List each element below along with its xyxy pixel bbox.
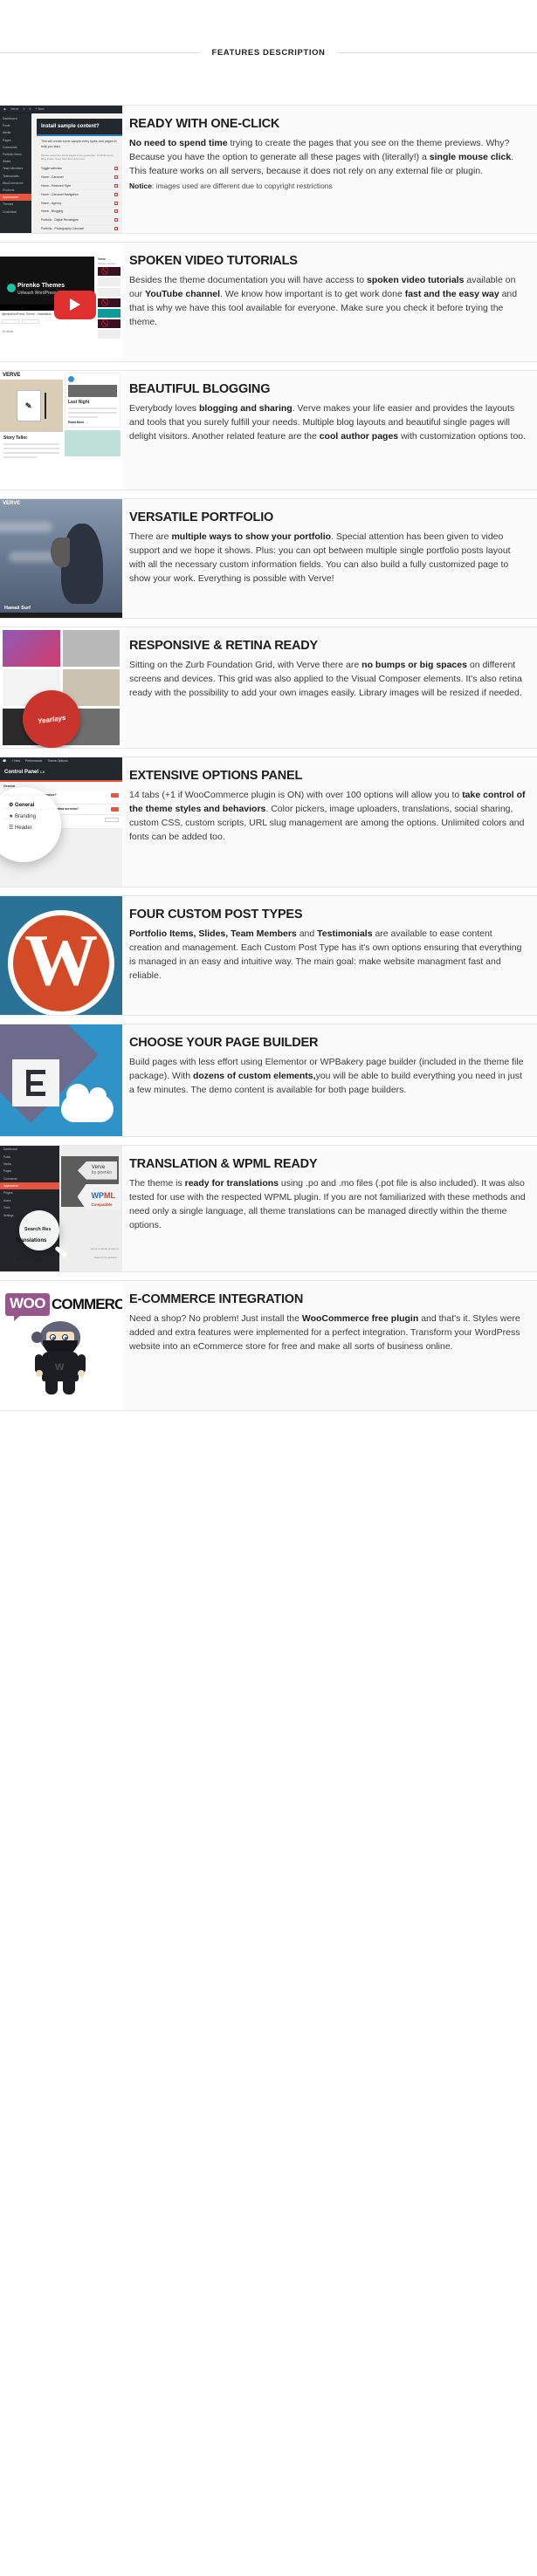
new-button[interactable]: + New — [11, 759, 20, 763]
theme-author: by pirenko — [92, 1171, 112, 1176]
tab-general-label[interactable]: ⚙ General — [0, 799, 61, 811]
checkbox-icon[interactable]: ✓ — [114, 227, 118, 230]
feature-media-options-panel: 💬 + New Performance Theme Options Contro… — [0, 757, 122, 887]
feature-text: READY WITH ONE-CLICK No need to spend ti… — [122, 106, 537, 233]
checkbox-icon[interactable]: ✓ — [114, 167, 118, 170]
option-label: Toggle selection — [41, 167, 62, 170]
feature-media-portfolio: VERVE Hawaii Surf — [0, 499, 122, 618]
wp-admin-bar: ◉ Verve 1 0 + New — [0, 106, 122, 113]
wp-comments-count[interactable]: 0 — [29, 107, 31, 111]
feature-body: Need a shop? No problem! Just install th… — [129, 1312, 527, 1354]
ninja-body: W — [42, 1352, 79, 1381]
list-item[interactable] — [98, 267, 120, 276]
option-label: Portfolio - Digital Rectangles — [41, 218, 79, 222]
woocommerce-logo: WOO COMMERCE — [5, 1293, 122, 1316]
blog-card[interactable]: Last Night Read More → — [65, 373, 120, 428]
panel-title: Control Panel — [4, 770, 38, 775]
theme-options-menu[interactable]: Theme Options — [47, 759, 67, 763]
sidebar-item-posts[interactable]: Posts — [0, 122, 31, 129]
feature-title: VERSATILE PORTFOLIO — [129, 511, 527, 525]
feature-media-youtube: Pirenko Themes Unleash WordPress Verve W… — [0, 243, 122, 361]
logo-outer-circle: W — [8, 910, 114, 1015]
wp-admin-bar: 💬 + New Performance Theme Options — [0, 757, 122, 764]
panel-version: 1.6 — [40, 770, 45, 774]
checkbox-icon[interactable]: ✓ — [114, 218, 118, 222]
text-line — [3, 448, 59, 449]
share-button[interactable] — [22, 319, 39, 324]
blog-bottom-image — [65, 430, 120, 456]
feature-text: TRANSLATION & WPML READY The theme is re… — [122, 1146, 537, 1271]
woocommerce-ninja-icon: W — [31, 1321, 89, 1396]
list-item[interactable]: Home - Featured Style✓ — [41, 182, 118, 191]
feature-text: CHOOSE YOUR PAGE BUILDER Build pages wit… — [122, 1024, 537, 1136]
feature-body: The theme is ready for translations usin… — [129, 1177, 527, 1233]
sidebar-item[interactable]: Users — [0, 1197, 59, 1204]
features-description-title: FEATURES DESCRIPTION — [211, 48, 325, 58]
install-card-subtext: Please select the demo pages to be gener… — [37, 154, 122, 166]
ninja-leg-left — [45, 1379, 58, 1394]
sidebar-item[interactable]: Media — [0, 1161, 59, 1168]
sidebar-item-active[interactable]: Appearance — [0, 1182, 59, 1189]
feature-text: RESPONSIVE & RETINA READY Sitting on the… — [122, 627, 537, 748]
brand-line-1: Pirenko Themes — [17, 283, 65, 289]
feature-media-page-builder — [0, 1024, 122, 1136]
blog-right-column: Last Night Read More → — [63, 371, 122, 490]
logo-inner-circle: W — [13, 915, 109, 1011]
sidebar-item-themes[interactable]: Themes — [0, 201, 31, 208]
woo-badge: WOO — [5, 1293, 50, 1316]
list-item[interactable]: Home - Carousel✓ — [41, 174, 118, 182]
wp-updates-count[interactable]: 1 — [23, 107, 24, 111]
cloud-shape — [0, 522, 52, 532]
pirenko-logo-icon — [7, 284, 16, 292]
feature-title: BEAUTIFUL BLOGGING — [129, 383, 527, 397]
wp-logo-icon: ◉ — [3, 107, 6, 111]
list-item[interactable]: Portfolio - Photography Carousel✓ — [41, 225, 118, 233]
install-sample-content-card: Install sample content? — [37, 119, 122, 136]
toggle-switch[interactable] — [111, 793, 119, 798]
list-item[interactable]: Home - Agency✓ — [41, 199, 118, 208]
install-card-title: Install sample content? — [37, 119, 122, 134]
sidebar-item-testimonials[interactable]: Testimonials — [0, 173, 31, 180]
video-sidebar-list: Verve Pirenko Themes — [96, 257, 122, 358]
feature-body: Besides the theme documentation you will… — [129, 274, 527, 330]
option-label: Home - Featured Style — [41, 184, 71, 188]
video-views: 16 views — [2, 330, 13, 333]
feature-text: FOUR CUSTOM POST TYPES Portfolio Items, … — [122, 896, 537, 1015]
text-line — [3, 452, 59, 454]
feature-beautiful-blogging: VERVE ✎ Story Teller — [0, 370, 537, 490]
feature-media-wordpress-logo: W — [0, 896, 122, 1015]
panel-header: Control Panel 1.6 — [0, 764, 122, 780]
tab-label: General — [15, 803, 34, 808]
ninja-chest-letter: W — [55, 1362, 64, 1373]
field-hint: Items to divide pieces of — [91, 1247, 119, 1250]
wordpress-admin-mock: ◉ Verve 1 0 + New Dashboard Posts Media … — [0, 106, 122, 233]
checkbox-icon[interactable]: ✓ — [114, 184, 118, 188]
grid-cell — [3, 630, 60, 667]
numeric-input[interactable] — [105, 818, 119, 822]
subscribe-button[interactable] — [2, 319, 19, 324]
feature-title: CHOOSE YOUR PAGE BUILDER — [129, 1037, 527, 1051]
feature-ready-with-one-click: ◉ Verve 1 0 + New Dashboard Posts Media … — [0, 105, 537, 234]
feature-media-blogging: VERVE ✎ Story Teller — [0, 371, 122, 490]
feature-text: VERSATILE PORTFOLIO There are multiple w… — [122, 499, 537, 618]
stamp-label: Yearlays — [37, 713, 66, 724]
sidebar-item[interactable]: Plugins — [0, 1189, 59, 1196]
ninja-hand-right — [78, 1370, 85, 1377]
post-title: Story Teller — [3, 435, 59, 441]
tab-branding-label[interactable]: ★ Branding — [0, 811, 61, 822]
site-logo: VERVE — [0, 371, 63, 380]
stamp-badge: Yearlays — [23, 690, 80, 748]
features-section-header: FEATURES DESCRIPTION — [0, 0, 537, 105]
list-item[interactable]: Home - Blogging✓ — [41, 208, 118, 216]
image-caption: Hawaii Surf — [0, 606, 122, 611]
feature-choose-your-page-builder: CHOOSE YOUR PAGE BUILDER Build pages wit… — [0, 1024, 537, 1137]
post-title: Last Night — [68, 400, 117, 405]
feature-notice: Notice: images used are different due to… — [129, 181, 527, 192]
sidebar-item-portfolio-items[interactable]: Portfolio Items — [0, 151, 31, 158]
wpml-ml: ML — [104, 1191, 115, 1200]
feature-media-responsive-grid: Yearlays — [0, 627, 122, 748]
site-logo: VERVE — [3, 501, 20, 506]
post-thumbnail — [68, 385, 117, 397]
list-item[interactable] — [98, 319, 120, 328]
feature-responsive-retina-ready: Yearlays RESPONSIVE & RETINA READY Sitti… — [0, 627, 537, 749]
tab-header-label[interactable]: ☰ Header — [0, 822, 61, 833]
surfer-face — [51, 538, 70, 567]
feature-extensive-options-panel: 💬 + New Performance Theme Options Contro… — [0, 757, 537, 887]
checkbox-icon[interactable]: ✓ — [114, 209, 118, 213]
wpml-compatible-label: Compatible — [92, 1202, 116, 1207]
feature-title: EXTENSIVE OPTIONS PANEL — [129, 770, 527, 784]
feature-body: There are multiple ways to show your por… — [129, 531, 527, 586]
video-title: Verve WordPress Theme - Installation — [2, 312, 93, 316]
list-item[interactable]: Portfolio - Digital Rectangles✓ — [41, 216, 118, 225]
feature-title: TRANSLATION & WPML READY — [129, 1158, 527, 1172]
feature-body: Build pages with less effort using Eleme… — [129, 1056, 527, 1098]
feature-translation-wpml-ready: Dashboard Posts Media Pages Comments App… — [0, 1145, 537, 1272]
feature-text: BEAUTIFUL BLOGGING Everybody loves blogg… — [122, 371, 537, 490]
sidebar-item-pages[interactable]: Pages — [0, 137, 31, 144]
sidebar-item[interactable]: Pages — [0, 1168, 59, 1175]
sidebar-item-appearance[interactable]: Appearance — [0, 194, 31, 201]
ninja-leg-right — [63, 1379, 75, 1394]
feature-e-commerce-integration: WOO COMMERCE W — [0, 1280, 537, 1411]
scribble-icon: ✎ — [25, 401, 32, 410]
translation-mock: Dashboard Posts Media Pages Comments App… — [0, 1146, 122, 1271]
blog-hero-image: ✎ — [0, 380, 63, 432]
sidebar-item-media[interactable]: Media — [0, 129, 31, 136]
wp-admin-sidebar: Dashboard Posts Media Pages Comments Por… — [0, 113, 31, 233]
option-label: Home - Agency — [41, 202, 61, 205]
header-rule-left — [0, 52, 199, 53]
page-builder-graphic — [0, 1024, 122, 1136]
list-item[interactable]: Home - Carousel Navigation✓ — [41, 190, 118, 199]
option-label: Portfolio - Photography Carousel — [41, 227, 84, 230]
wpml-label: WPML — [92, 1191, 116, 1200]
tab-label: Branding — [15, 814, 36, 819]
text-line — [3, 443, 59, 445]
list-item[interactable] — [98, 277, 120, 286]
install-card-text: This will create some sample entry types… — [37, 136, 122, 154]
performance-menu[interactable]: Performance — [25, 759, 42, 763]
feature-body: Everybody loves blogging and sharing. Ve… — [129, 402, 527, 444]
checkbox-icon[interactable]: ✓ — [114, 202, 118, 205]
wpml-badge: WPML Compatible — [78, 1184, 121, 1209]
read-more-link[interactable]: Read More → — [68, 421, 117, 424]
menu-item-translations[interactable]: Translations — [16, 1238, 46, 1243]
admin-sidebar: Dashboard Posts Media Pages Comments App… — [0, 1146, 59, 1271]
elementor-logo-icon — [12, 1059, 59, 1106]
list-item[interactable] — [98, 298, 120, 307]
magnifier-icon: Search Res — [19, 1210, 59, 1250]
sidebar-item[interactable]: Posts — [0, 1153, 59, 1160]
wp-admin-main: Install sample content? This will create… — [31, 113, 122, 233]
sidebar-item[interactable]: Dashboard — [0, 1146, 59, 1153]
sidebar-item-team-members[interactable]: Team Members — [0, 165, 31, 172]
woocommerce-graphic: WOO COMMERCE W — [0, 1281, 122, 1410]
blog-left-column: VERVE ✎ Story Teller — [0, 371, 63, 490]
text-line — [3, 456, 37, 458]
list-item[interactable]: Toggle selection✓ — [41, 165, 118, 174]
blog-post-teaser[interactable]: Story Teller — [0, 432, 63, 458]
wordpress-logo: W — [0, 896, 122, 1015]
cloud-icon — [61, 1094, 114, 1122]
feature-title: READY WITH ONE-CLICK — [129, 118, 527, 132]
footer-bar — [0, 613, 122, 618]
sidebar-item-slides[interactable]: Slides — [0, 158, 31, 165]
sidebar-item-products[interactable]: Products — [0, 187, 31, 194]
wordpress-w-icon: W — [24, 924, 98, 997]
menu-item-woocommerce[interactable]: Woocomm — [16, 1257, 43, 1263]
wp-new-button[interactable]: + New — [35, 107, 44, 111]
wp-site-name[interactable]: Verve — [10, 107, 18, 111]
feature-media-translation: Dashboard Posts Media Pages Comments App… — [0, 1146, 122, 1271]
feature-title: SPOKEN VIDEO TUTORIALS — [129, 255, 527, 269]
feature-text: EXTENSIVE OPTIONS PANEL 14 tabs (+1 if W… — [122, 757, 537, 887]
feature-title: RESPONSIVE & RETINA READY — [129, 640, 527, 654]
text-line — [68, 408, 117, 409]
feature-title: E-COMMERCE INTEGRATION — [129, 1293, 527, 1307]
list-item[interactable] — [98, 288, 120, 297]
features-page: FEATURES DESCRIPTION ◉ Verve 1 0 + New D… — [0, 0, 537, 1411]
commerce-text: COMMERCE — [52, 1296, 122, 1313]
search-results-label: Search Res — [24, 1227, 51, 1232]
text-line — [68, 416, 98, 418]
pen-icon — [45, 393, 46, 419]
option-label: Home - Carousel — [41, 175, 64, 179]
list-item[interactable] — [98, 330, 120, 339]
youtube-mock: Pirenko Themes Unleash WordPress Verve W… — [0, 243, 122, 361]
header-rule-right — [338, 52, 537, 53]
blog-layout-mock: VERVE ✎ Story Teller — [0, 371, 122, 490]
feature-body: 14 tabs (+1 if WooCommerce plugin is ON)… — [129, 789, 527, 845]
framed-artwork: ✎ — [17, 390, 41, 421]
feature-text: SPOKEN VIDEO TUTORIALS Besides the theme… — [122, 243, 537, 361]
feature-body: No need to spend time trying to create t… — [129, 137, 527, 179]
option-label: Home - Carousel Navigation — [41, 193, 79, 196]
avatar — [68, 376, 74, 382]
feature-body: Sitting on the Zurb Foundation Grid, wit… — [129, 659, 527, 701]
feature-media-wp-install: ◉ Verve 1 0 + New Dashboard Posts Media … — [0, 106, 122, 233]
ninja-eye-right — [62, 1334, 68, 1340]
feature-media-woocommerce: WOO COMMERCE W — [0, 1281, 122, 1410]
tab-label: Header — [15, 826, 32, 831]
feature-versatile-portfolio: VERVE Hawaii Surf VERSATILE PORTFOLIO Th… — [0, 498, 537, 619]
wpml-wp: WP — [92, 1191, 105, 1200]
sidebar-item[interactable]: Tools — [0, 1204, 59, 1211]
ninja-hand-left — [36, 1370, 43, 1377]
sidebar-item[interactable]: Comments — [0, 1175, 59, 1182]
list-item[interactable] — [98, 309, 120, 318]
feature-title: FOUR CUSTOM POST TYPES — [129, 908, 527, 922]
portfolio-hero-image: VERVE Hawaii Surf — [0, 499, 122, 618]
install-options-list: Toggle selection✓ Home - Carousel✓ Home … — [37, 165, 122, 233]
feature-text: E-COMMERCE INTEGRATION Need a shop? No p… — [122, 1281, 537, 1410]
sidebar-item-customize[interactable]: Customize — [0, 208, 31, 215]
feature-spoken-video-tutorials: Pirenko Themes Unleash WordPress Verve W… — [0, 242, 537, 362]
option-label: Home - Blogging — [41, 209, 63, 213]
sidebar-item-comments[interactable]: Comments — [0, 144, 31, 151]
feature-body: Portfolio Items, Slides, Team Members an… — [129, 928, 527, 983]
wp-admin-body: Dashboard Posts Media Pages Comments Por… — [0, 113, 122, 233]
checkbox-icon[interactable]: ✓ — [114, 175, 118, 179]
ninja-knot — [31, 1332, 43, 1343]
toggle-switch[interactable] — [111, 807, 119, 812]
grid-cell — [63, 630, 120, 667]
checkbox-icon[interactable]: ✓ — [114, 193, 118, 196]
video-action-buttons[interactable] — [2, 319, 39, 324]
search-placeholder-text: Search the website... — [94, 1256, 119, 1259]
feature-four-custom-post-types: W FOUR CUSTOM POST TYPES Portfolio Items… — [0, 895, 537, 1016]
sidebar-item-dashboard[interactable]: Dashboard — [0, 115, 31, 122]
sidebar-item-woocommerce[interactable]: WooCommerce — [0, 180, 31, 187]
text-line — [68, 412, 117, 414]
ninja-eye-left — [50, 1334, 56, 1340]
options-panel-mock: 💬 + New Performance Theme Options Contro… — [0, 757, 122, 887]
comments-icon[interactable]: 💬 — [3, 759, 6, 763]
